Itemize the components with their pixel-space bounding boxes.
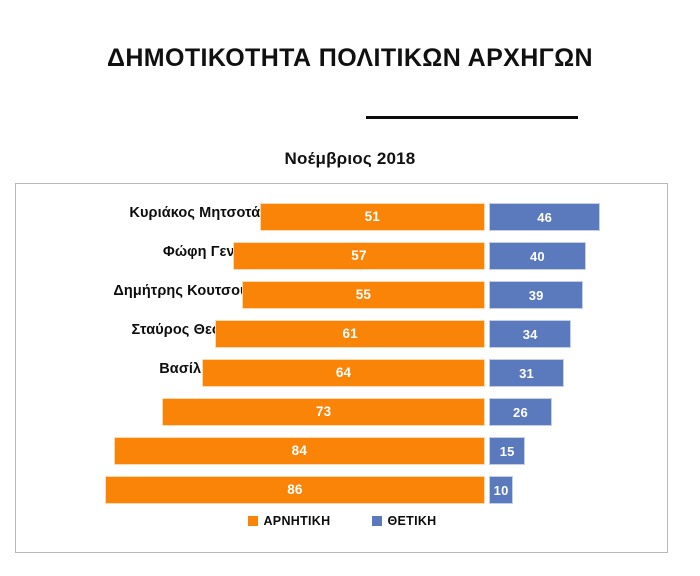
- title-divider-rule: [366, 116, 578, 119]
- bar-positive: 31: [489, 359, 564, 387]
- bar-value-positive: 31: [519, 367, 534, 380]
- bar-positive: 39: [489, 281, 583, 309]
- bar-row: Σταύρος Θεοδωράκης6134: [16, 315, 669, 354]
- bar-row: Βασίλης Λεβέντης6431: [16, 354, 669, 393]
- bar-positive: 26: [489, 398, 552, 426]
- bar-negative: 64: [202, 359, 485, 387]
- bar-row: Δημήτρης Κουτσούμπας5539: [16, 276, 669, 315]
- bar-value-positive: 46: [537, 211, 552, 224]
- bar-value-negative: 61: [342, 327, 357, 341]
- bar-row: Αλέξης Τσίπρας7326: [16, 393, 669, 432]
- bar-negative: 57: [233, 242, 485, 270]
- legend-negative[interactable]: ΑΡΝΗΤΙΚΗ: [248, 514, 330, 528]
- bar-value-negative: 51: [365, 210, 380, 224]
- bar-value-negative: 73: [316, 405, 331, 419]
- bar-value-positive: 10: [494, 484, 509, 497]
- bar-value-positive: 40: [530, 250, 545, 263]
- bar-row: Κυριάκος Μητσοτάκης5146: [16, 198, 669, 237]
- bar-value-positive: 39: [529, 289, 544, 302]
- bar-positive: 46: [489, 203, 600, 231]
- chart-subtitle: Νοέμβριος 2018: [0, 149, 700, 169]
- bar-value-negative: 55: [356, 288, 371, 302]
- bar-rows-container: Κυριάκος Μητσοτάκης5146Φώφη Γεννηματά574…: [16, 198, 669, 510]
- bar-row: Νίκος Μιχαλολιάκος8610: [16, 471, 669, 510]
- bar-negative: 61: [215, 320, 485, 348]
- bar-value-negative: 84: [292, 444, 307, 458]
- page-title: ΔΗΜΟΤΙΚΟΤΗΤΑ ΠΟΛΙΤΙΚΩΝ ΑΡΧΗΓΩΝ: [0, 44, 700, 73]
- bar-value-positive: 26: [513, 406, 528, 419]
- legend-swatch-icon: [248, 516, 258, 526]
- bar-row: Πάνος Καμμένος8415: [16, 432, 669, 471]
- bar-negative: 55: [242, 281, 485, 309]
- legend-label: ΘΕΤΙΚΗ: [387, 514, 436, 528]
- bar-value-positive: 34: [523, 328, 538, 341]
- chart-plot-frame: Κυριάκος Μητσοτάκης5146Φώφη Γεννηματά574…: [15, 183, 668, 553]
- bar-positive: 34: [489, 320, 571, 348]
- legend-swatch-icon: [372, 516, 382, 526]
- bar-value-positive: 15: [500, 445, 515, 458]
- bar-value-negative: 57: [351, 249, 366, 263]
- bar-negative: 84: [114, 437, 485, 465]
- legend-label: ΑΡΝΗΤΙΚΗ: [263, 514, 330, 528]
- bar-row: Φώφη Γεννηματά5740: [16, 237, 669, 276]
- bar-negative: 73: [162, 398, 485, 426]
- bar-value-negative: 86: [287, 483, 302, 497]
- bar-negative: 86: [105, 476, 485, 504]
- bar-value-negative: 64: [336, 366, 351, 380]
- bar-negative: 51: [260, 203, 485, 231]
- legend-positive[interactable]: ΘΕΤΙΚΗ: [372, 514, 436, 528]
- bar-positive: 10: [489, 476, 513, 504]
- chart-legend: ΑΡΝΗΤΙΚΗΘΕΤΙΚΗ: [16, 514, 669, 528]
- bar-positive: 40: [489, 242, 586, 270]
- bar-positive: 15: [489, 437, 525, 465]
